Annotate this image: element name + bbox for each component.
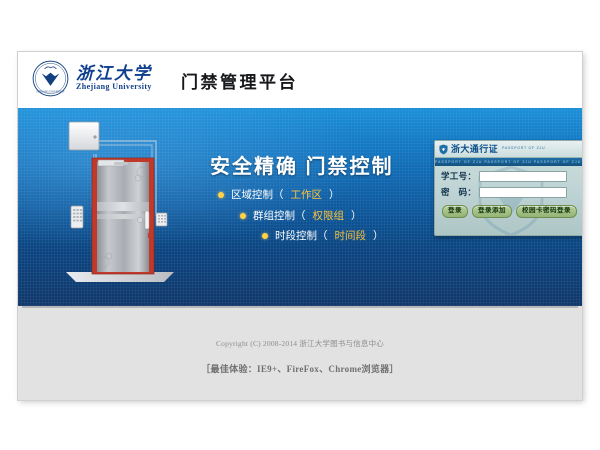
banner-headline: 安全精确 门禁控制 [210,150,394,179]
browser-support-note: ［最佳体验：IE9+、FireFox、Chrome浏览器］ [18,362,582,375]
password-label: 密 码： [441,186,479,198]
username-input[interactable] [479,171,567,182]
feature-highlight: 权限组 [313,211,345,222]
brand-name-en: Zhejiang University [76,83,152,92]
access-control-door-illustration [52,116,192,298]
bullet-dot-icon [218,192,224,198]
username-row: 学工号： [441,170,582,182]
login-panel-title: 浙大通行证 [451,145,498,154]
banner-feature-list: 区域控制（工作区） 群组控制（权限组） 时段控制（时间段） [218,190,384,252]
zju-seal-icon: ZHEJIANG UNIVERSITY [32,60,69,97]
feature-tail: ） [351,211,362,222]
feature-text: 群组控制（ [253,211,306,222]
site-footer: Copyright (C) 2008-2014 浙江大学图书与信息中心 ［最佳体… [18,306,582,400]
login-button[interactable]: 登录 [442,205,468,218]
feature-text: 时段控制（ [275,231,328,242]
bullet-dot-icon [262,233,268,239]
brand-wordmark: 浙江大学 Zhejiang University [76,65,152,92]
login-button-row: 登录 登录添加 校园卡密码登录 [442,205,582,218]
feature-text: 区域控制（ [231,190,284,201]
login-panel-subtitle: PASSPORT OF ZJU [502,147,545,151]
password-input[interactable] [479,187,567,198]
feature-item-time: 时段控制（时间段） [262,231,384,242]
login-add-button[interactable]: 登录添加 [472,205,512,218]
feature-highlight: 时间段 [335,231,367,242]
page-title: 门禁管理平台 [181,68,298,93]
feature-highlight: 工作区 [291,190,323,201]
feature-tail: ） [373,231,384,242]
footer-divider [22,306,578,308]
login-panel-header: 浙大通行证 PASSPORT OF ZJU [435,141,582,158]
bullet-dot-icon [240,213,246,219]
feature-item-area: 区域控制（工作区） [218,190,384,201]
feature-item-group: 群组控制（权限组） [240,211,384,222]
brand-block: ZHEJIANG UNIVERSITY 浙江大学 Zhejiang Univer… [32,60,152,97]
login-form: 学工号： 密 码： 登录 登录添加 校园卡密码登录 [435,166,582,218]
feature-tail: ） [329,190,340,201]
page-container: ZHEJIANG UNIVERSITY 浙江大学 Zhejiang Univer… [18,52,582,400]
passport-strip: PASSPORT OF ZJU PASSPORT OF ZJU PASSPORT… [435,158,582,166]
brand-name-cn: 浙江大学 [76,65,152,83]
campus-card-login-button[interactable]: 校园卡密码登录 [516,205,577,218]
copyright-text: Copyright (C) 2008-2014 浙江大学图书与信息中心 [18,338,582,349]
svg-text:ZHEJIANG UNIVERSITY: ZHEJIANG UNIVERSITY [36,91,65,94]
password-row: 密 码： [441,186,582,198]
site-header: ZHEJIANG UNIVERSITY 浙江大学 Zhejiang Univer… [18,52,582,108]
login-panel: 浙大通行证 PASSPORT OF ZJU PASSPORT OF ZJU PA… [434,140,582,236]
username-label: 学工号： [441,170,479,182]
shield-icon [439,144,448,155]
hero-banner: 安全精确 门禁控制 区域控制（工作区） 群组控制（权限组） 时段控制（时间段） [18,108,582,306]
